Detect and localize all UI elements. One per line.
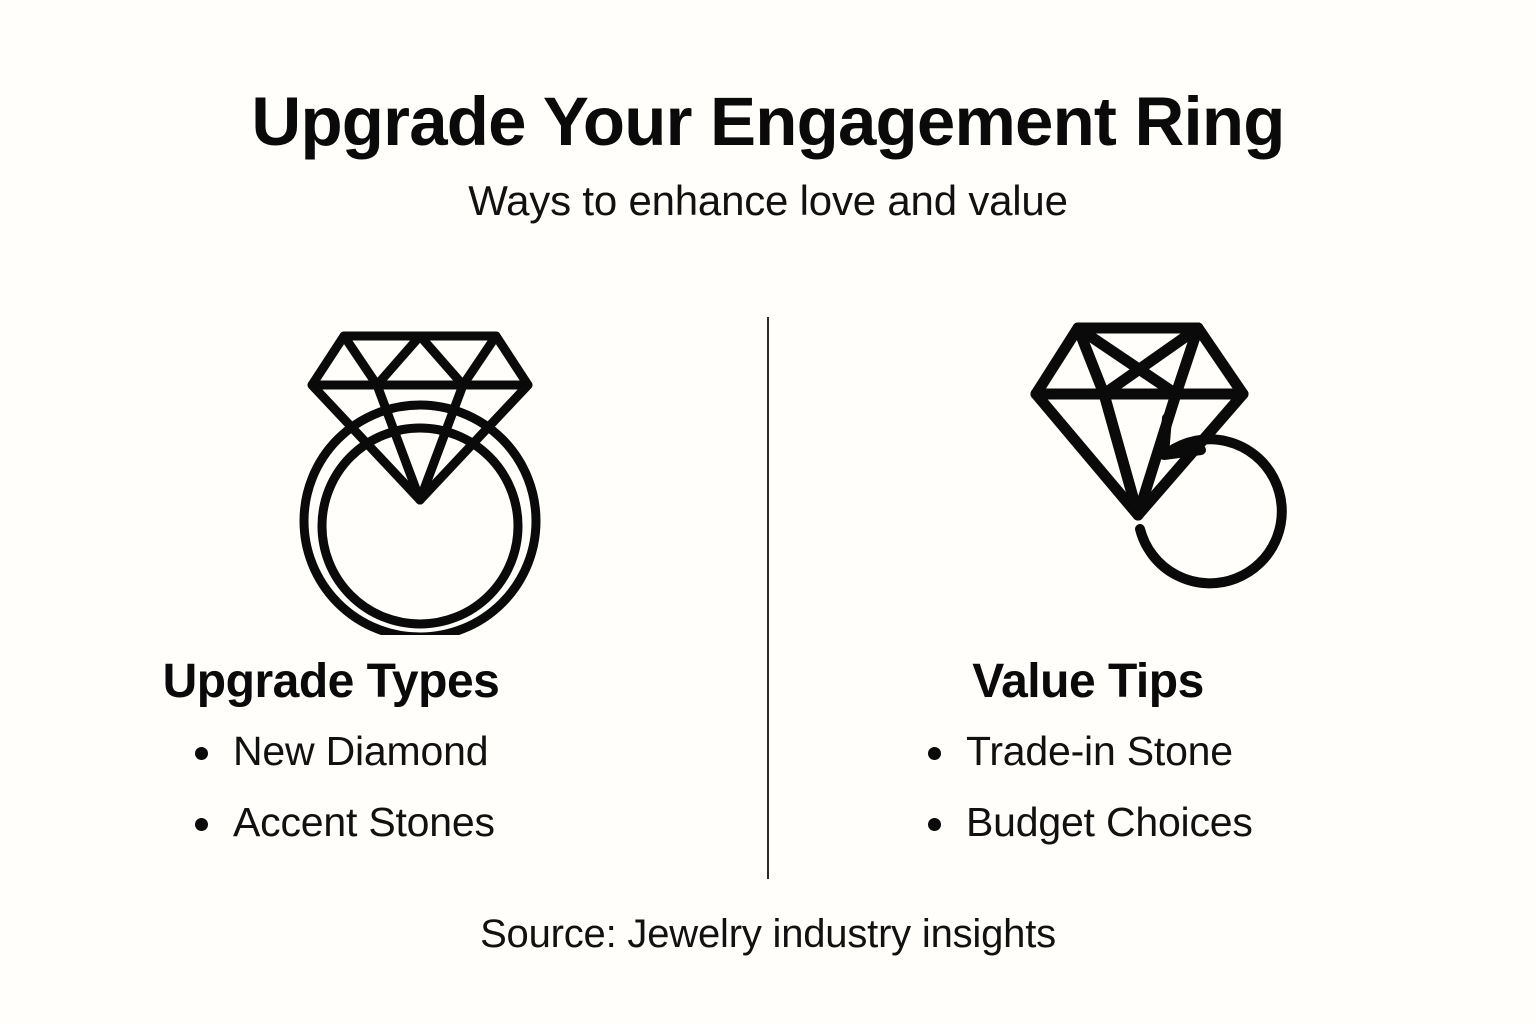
column-value-tips: Value Tips Trade-in Stone Budget Choices [790,310,1490,910]
list-item: New Diamond [195,731,740,772]
header: Upgrade Your Engagement Ring Ways to enh… [0,86,1536,225]
footer: Source: Jewelry industry insights [0,912,1536,957]
bullet-dot-icon [928,818,941,831]
list-item: Trade-in Stone [928,731,1490,772]
page-subtitle: Ways to enhance love and value [0,178,1536,224]
diamond-ring-icon [40,310,770,640]
column-upgrade-types: Upgrade Types New Diamond Accent Stones [40,310,740,910]
bullet-dot-icon [195,747,208,760]
column-heading-value-tips: Value Tips [790,654,1490,709]
list-item: Budget Choices [928,802,1490,843]
page-title: Upgrade Your Engagement Ring [0,86,1536,158]
bullet-dot-icon [195,818,208,831]
list-item: Accent Stones [195,802,740,843]
diamond-refresh-icon [790,310,1508,640]
column-heading-upgrade-types: Upgrade Types [40,654,740,709]
columns-container: Upgrade Types New Diamond Accent Stones [0,310,1536,910]
infographic-page: Upgrade Your Engagement Ring Ways to enh… [0,0,1536,1024]
list-item-label: Accent Stones [233,799,495,845]
list-item-label: Budget Choices [966,799,1253,845]
bullet-list-value-tips: Trade-in Stone Budget Choices [790,731,1490,843]
bullet-dot-icon [928,747,941,760]
list-item-label: New Diamond [233,728,488,774]
list-item-label: Trade-in Stone [966,728,1233,774]
bullet-list-upgrade-types: New Diamond Accent Stones [40,731,740,843]
source-note: Source: Jewelry industry insights [0,912,1536,957]
